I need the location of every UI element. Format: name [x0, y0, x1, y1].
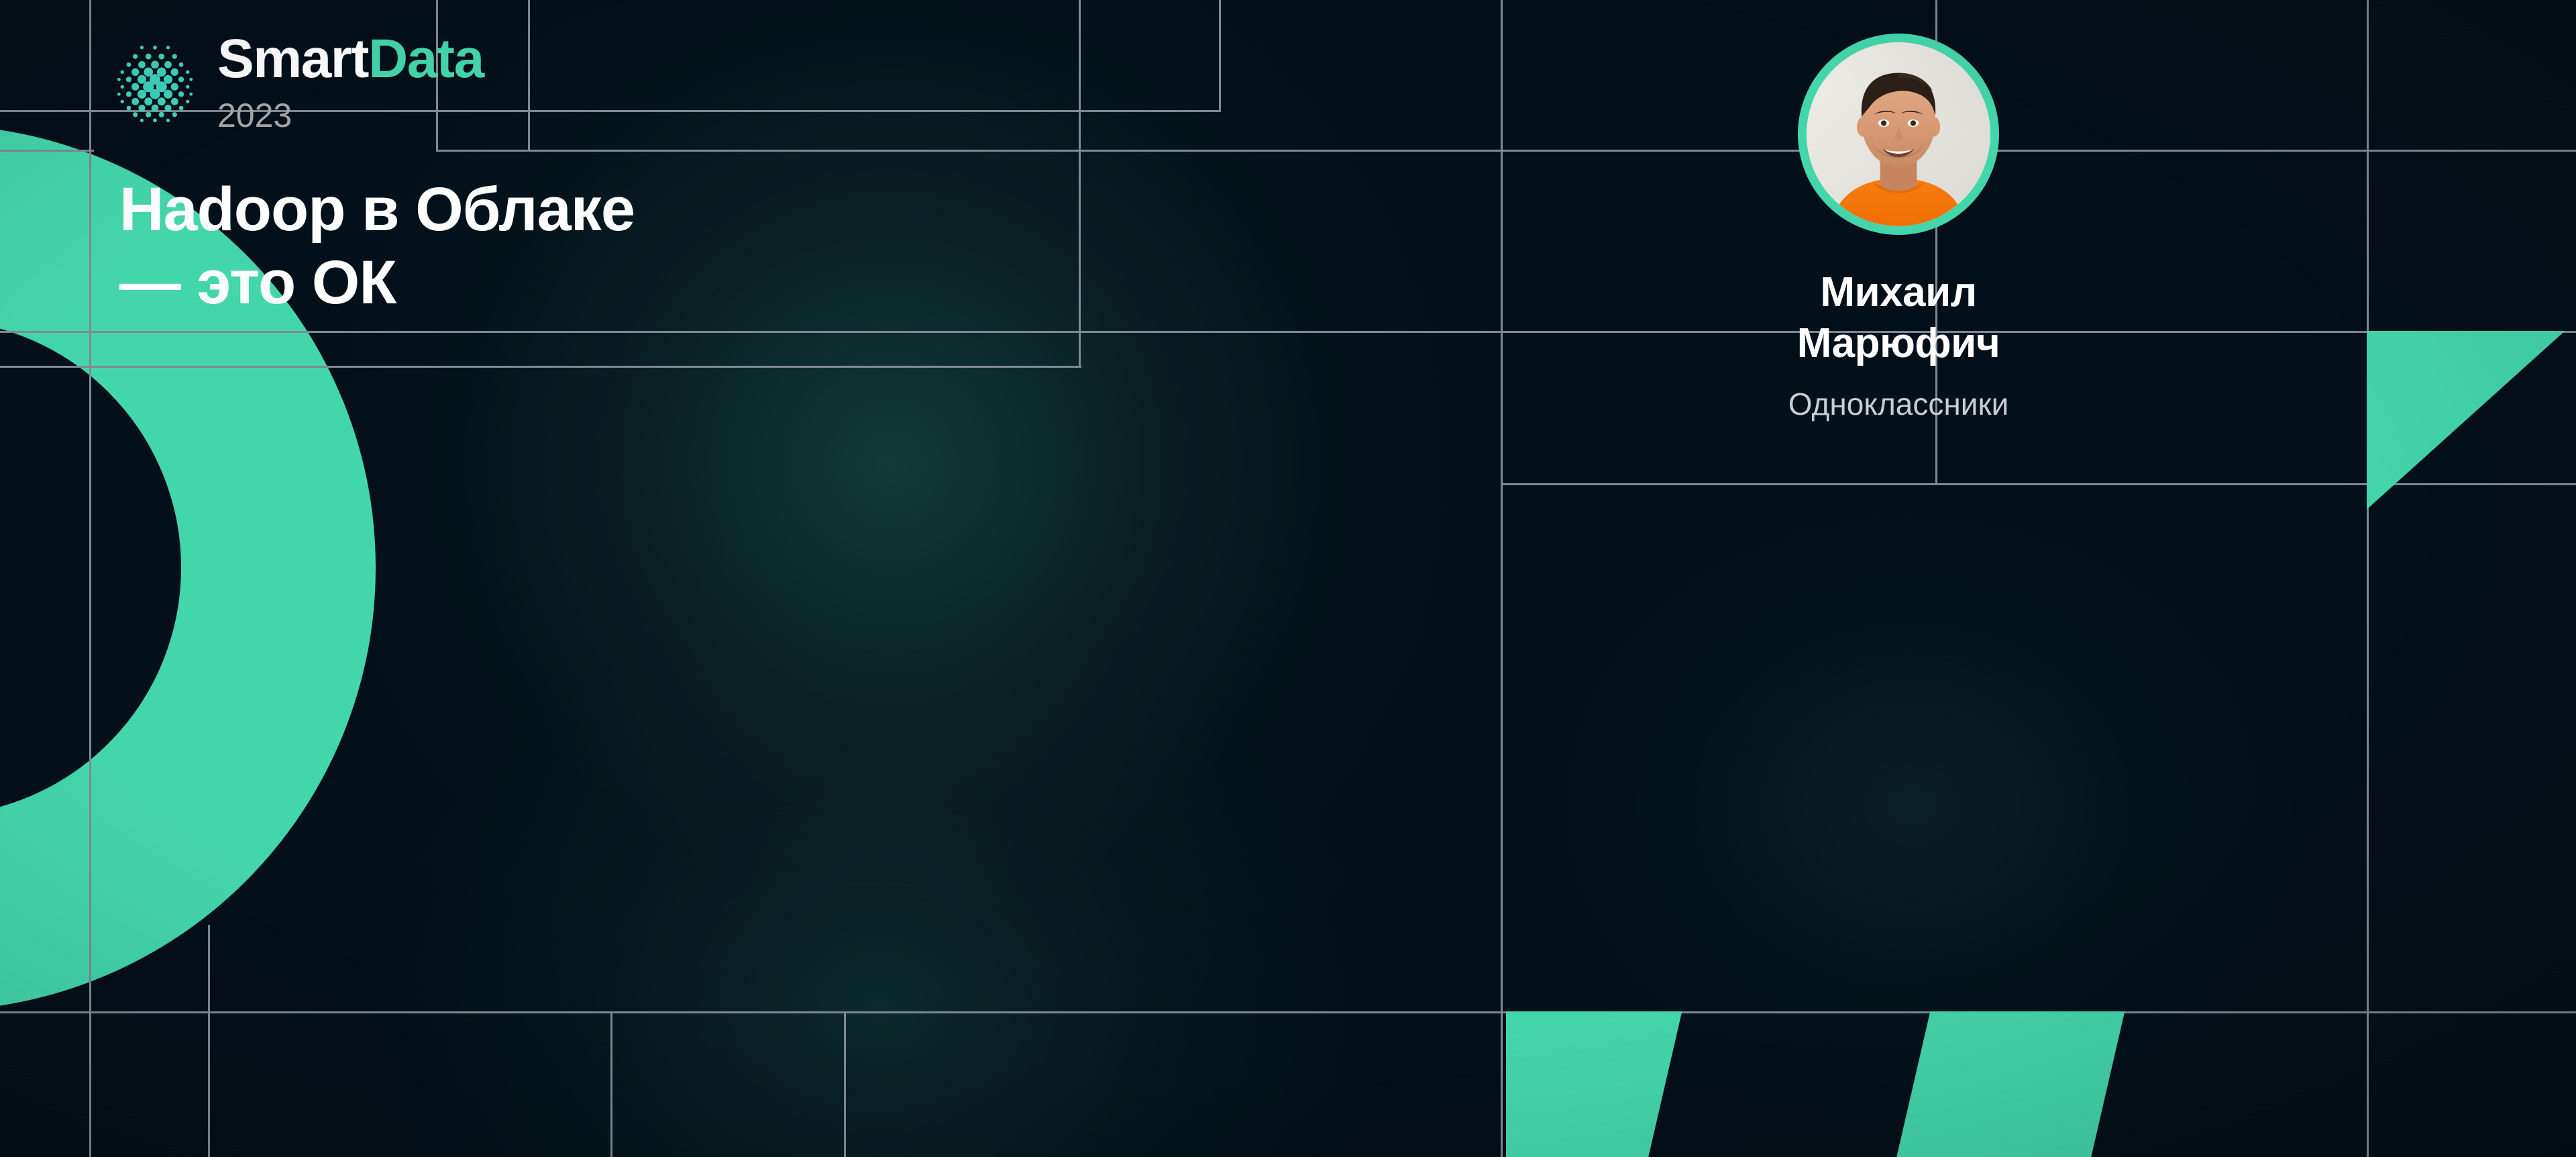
brand-wordmark: SmartData [217, 32, 484, 87]
smartdata-dots-logo-icon [114, 41, 196, 123]
gridline-vertical [610, 1011, 612, 1157]
stripe-shape [1506, 1011, 1729, 1157]
speaker-name: Михаил Марюфич [1597, 267, 2200, 368]
speaker-avatar [1798, 34, 1999, 235]
brand-year: 2023 [217, 99, 292, 132]
brand-logo: SmartData 2023 [114, 32, 484, 132]
brand-logo-text: SmartData 2023 [217, 32, 484, 132]
portrait-illustration-icon [1807, 42, 1990, 226]
gridline-vertical [528, 0, 530, 150]
speaker-name-line-1: Михаил [1597, 267, 2200, 318]
stripe-shape [1760, 1011, 2171, 1157]
speaker-company: Одноклассники [1597, 386, 2200, 423]
speaker-block: Михаил Марюфич Одноклассники [1597, 34, 2200, 423]
speaker-avatar-photo [1807, 42, 1990, 226]
gridline-vertical [844, 1011, 846, 1157]
stripe-shape [2367, 331, 2576, 619]
talk-title-line-1: Hadoop в Облаке [119, 173, 1166, 246]
gridline-vertical [1501, 0, 1503, 1157]
gridline-vertical [1219, 0, 1221, 110]
gridline-vertical [208, 925, 210, 1157]
decorative-stripes-right [2367, 331, 2576, 747]
brand-wordmark-data: Data [368, 28, 484, 89]
brand-wordmark-smart: Smart [217, 28, 368, 89]
talk-title: Hadoop в Облаке — это ОК [119, 173, 1166, 319]
background-glow-lower [376, 604, 1382, 1157]
gridline-horizontal [436, 150, 2576, 152]
talk-title-line-2: — это ОК [119, 246, 1166, 319]
conference-talk-slide: SmartData 2023 Hadoop в Облаке — это ОК [0, 0, 2576, 1157]
speaker-name-line-2: Марюфич [1597, 318, 2200, 369]
decorative-stripes-bottom-right [1506, 1011, 2576, 1157]
background-glow-center [255, 0, 1529, 1101]
